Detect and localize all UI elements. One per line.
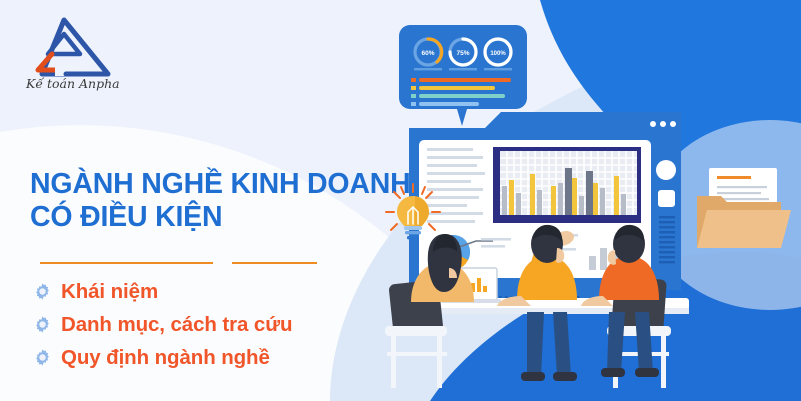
divider-rules [40, 262, 340, 266]
gauge-value: 60% [421, 50, 434, 57]
gear-icon [33, 348, 52, 367]
window-dot [670, 121, 676, 127]
list-item-label: Khái niệm [61, 280, 158, 304]
spreadsheet-grid-chart [493, 147, 641, 223]
list-item-label: Danh mục, cách tra cứu [61, 313, 292, 337]
gear-icon [33, 315, 52, 334]
list-item-label: Quy định ngành nghề [61, 346, 270, 370]
headline-line-1: NGÀNH NGHỀ KINH DOANH [30, 168, 411, 200]
divider-line-short [232, 262, 317, 264]
anpha-triangle-logo: Kế toán Anpha [22, 14, 137, 92]
divider-line-long [40, 262, 213, 264]
gauge-value: 75% [456, 50, 469, 57]
gear-icon [33, 282, 52, 301]
document-folder-icon [697, 168, 791, 248]
screen-control-round[interactable] [656, 160, 676, 180]
window-dot [650, 121, 656, 127]
window-dot [660, 121, 666, 127]
business-team-dashboard-illustration: 60% 75% 100% [381, 0, 801, 401]
brand-logo[interactable]: Kế toán Anpha [22, 14, 137, 92]
gauge-value: 100% [490, 51, 506, 57]
stat-card: 60% 75% 100% [399, 25, 527, 126]
promo-banner: Kế toán Anpha NGÀNH NGHỀ KINH DOANH CÓ Đ… [0, 0, 801, 401]
brand-logo-text: Kế toán Anpha [25, 76, 120, 91]
screen-control-square[interactable] [658, 190, 675, 207]
